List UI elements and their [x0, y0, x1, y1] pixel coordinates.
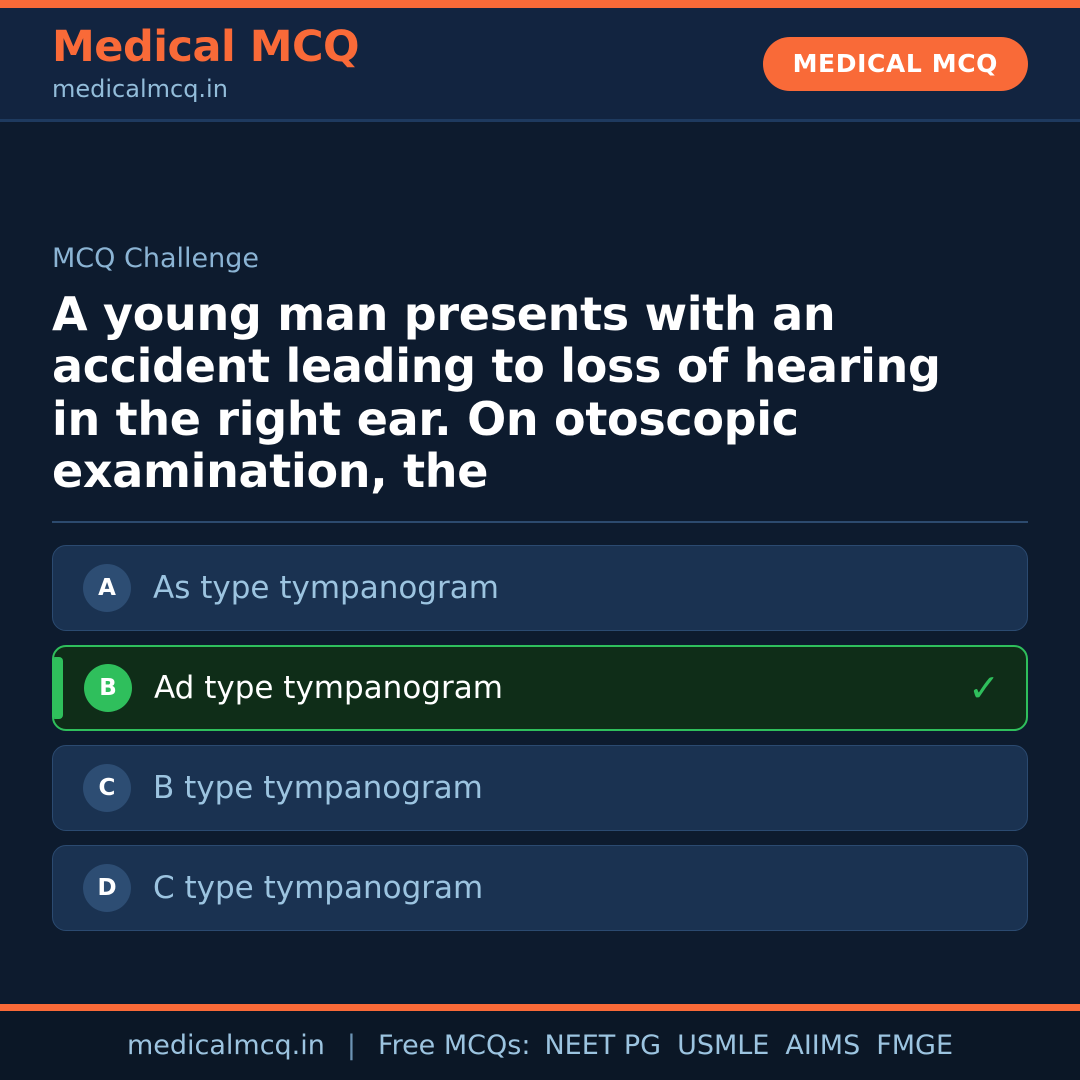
- option-label: Ad type tympanogram: [154, 671, 956, 705]
- eyebrow-label: MCQ Challenge: [52, 244, 1028, 274]
- option-c[interactable]: C B type tympanogram ✓: [52, 745, 1028, 831]
- option-letter-badge: B: [84, 664, 132, 712]
- option-a[interactable]: A As type tympanogram ✓: [52, 545, 1028, 631]
- option-label: B type tympanogram: [153, 771, 957, 805]
- options-list: A As type tympanogram ✓ B Ad type tympan…: [52, 545, 1028, 931]
- option-letter-badge: A: [83, 564, 131, 612]
- option-label: As type tympanogram: [153, 571, 957, 605]
- option-d[interactable]: D C type tympanogram ✓: [52, 845, 1028, 931]
- question-text: A young man presents with an accident le…: [52, 288, 952, 498]
- header: Medical MCQ medicalmcq.in MEDICAL MCQ: [0, 8, 1080, 122]
- check-icon: ✓: [968, 669, 1000, 707]
- footer-exam-tag[interactable]: FMGE: [876, 1031, 953, 1061]
- option-letter-badge: C: [83, 764, 131, 812]
- footer-exam-tags: NEET PG USMLE AIIMS FMGE: [544, 1031, 953, 1061]
- footer-exam-tag[interactable]: AIIMS: [785, 1031, 860, 1061]
- header-badge: MEDICAL MCQ: [763, 37, 1028, 91]
- footer-accent-bar: [0, 1004, 1080, 1011]
- brand-title: Medical MCQ: [52, 25, 359, 70]
- brand-subtitle: medicalmcq.in: [52, 76, 359, 102]
- footer-prefix: Free MCQs:: [378, 1031, 530, 1061]
- main-content: MCQ Challenge A young man presents with …: [0, 122, 1080, 1004]
- option-label: C type tympanogram: [153, 871, 957, 905]
- footer-exam-tag[interactable]: USMLE: [677, 1031, 769, 1061]
- section-divider: [52, 521, 1028, 523]
- option-letter-badge: D: [83, 864, 131, 912]
- footer: medicalmcq.in | Free MCQs: NEET PG USMLE…: [0, 1011, 1080, 1080]
- footer-site[interactable]: medicalmcq.in: [127, 1031, 325, 1061]
- option-b[interactable]: B Ad type tympanogram ✓: [52, 645, 1028, 731]
- footer-exam-tag[interactable]: NEET PG: [544, 1031, 661, 1061]
- brand-block: Medical MCQ medicalmcq.in: [52, 25, 359, 103]
- mcq-card: Medical MCQ medicalmcq.in MEDICAL MCQ MC…: [0, 0, 1080, 1080]
- top-accent-bar: [0, 0, 1080, 8]
- footer-separator: |: [325, 1031, 378, 1061]
